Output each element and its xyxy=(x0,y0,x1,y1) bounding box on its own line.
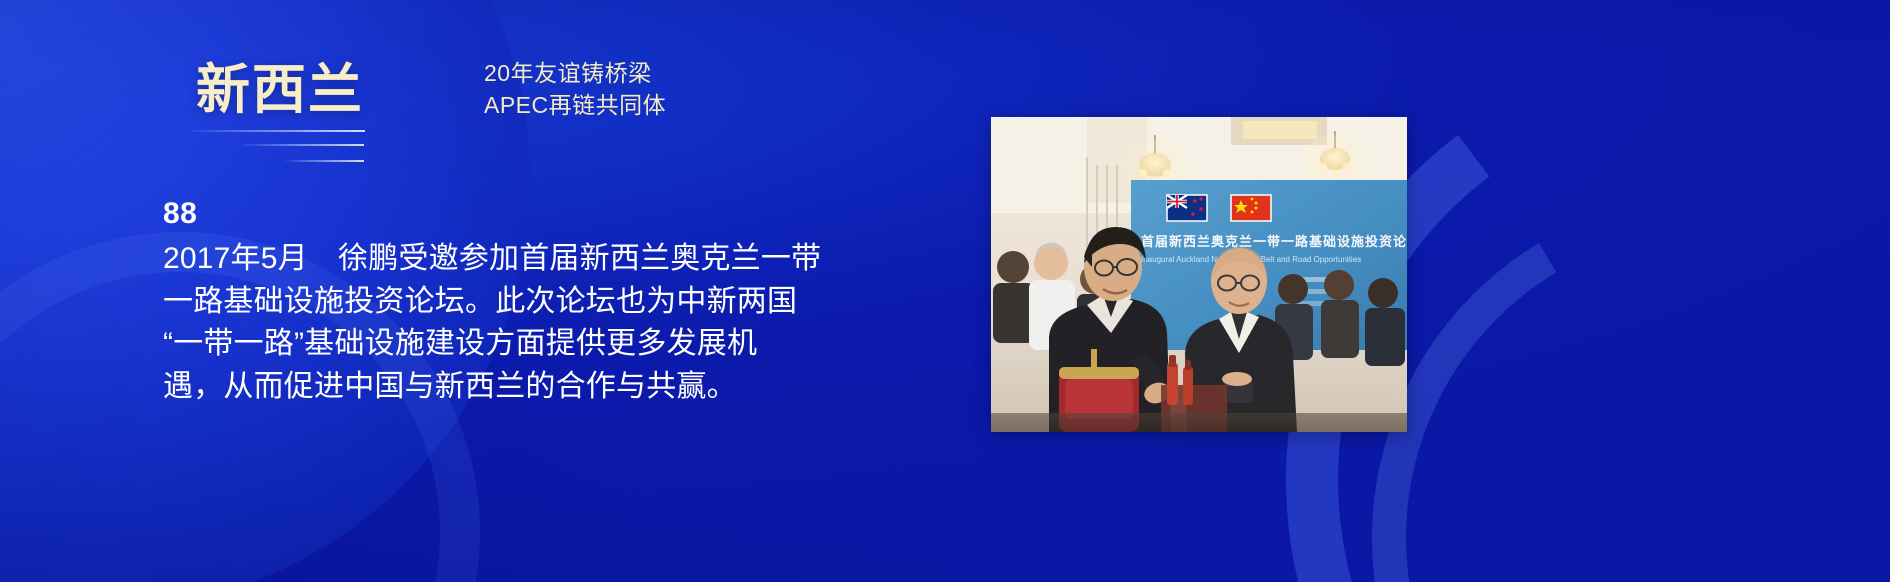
event-photo-illustration: 首届新西兰奥克兰一带一路基础设施投资论坛 Inaugural Auckland … xyxy=(991,117,1407,432)
slide-canvas: 新西兰 20年友谊铸桥梁 APEC再链共同体 88 2017年5月 徐鹏受邀参加… xyxy=(0,0,1890,582)
body-number: 88 xyxy=(163,196,863,232)
body-block: 88 2017年5月 徐鹏受邀参加首届新西兰奥克兰一带 一路基础设施投资论坛。此… xyxy=(163,196,863,408)
slide-subtitle: 20年友谊铸桥梁 APEC再链共同体 xyxy=(484,58,904,121)
title-rule-2 xyxy=(242,144,364,146)
title-rule-3 xyxy=(286,160,364,162)
title-underline-rules xyxy=(190,130,480,164)
event-photo: 首届新西兰奥克兰一带一路基础设施投资论坛 Inaugural Auckland … xyxy=(991,117,1407,432)
title-rule-1 xyxy=(190,130,365,132)
body-paragraph: 2017年5月 徐鹏受邀参加首届新西兰奥克兰一带 一路基础设施投资论坛。此次论坛… xyxy=(163,238,863,408)
